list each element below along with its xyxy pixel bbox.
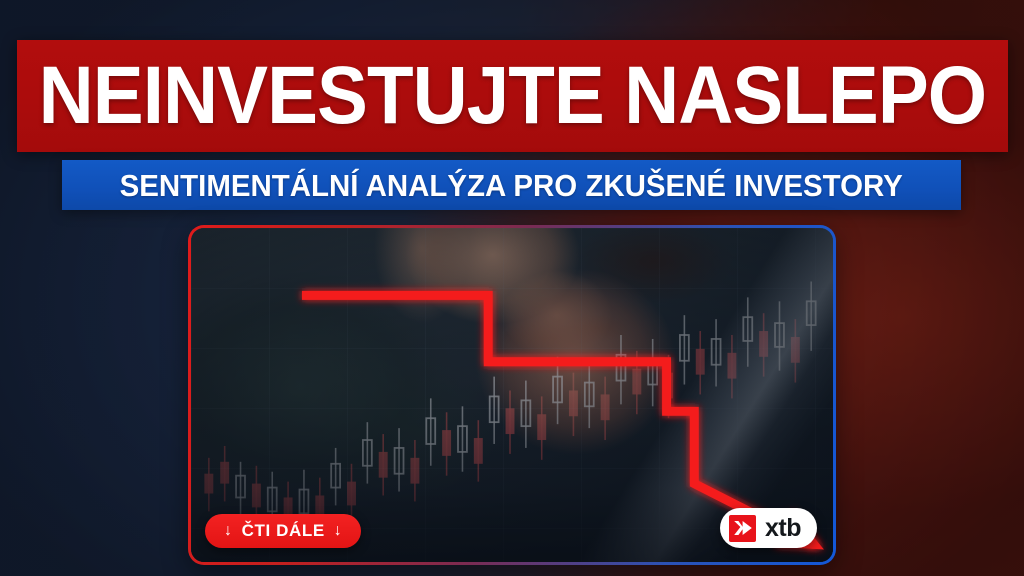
read-more-button[interactable]: ↓ ČTI DÁLE ↓	[205, 514, 361, 548]
hero-image-inner: ↓ ČTI DÁLE ↓ xtb	[191, 228, 833, 562]
poster-canvas: NEINVESTUJTE NASLEPO SENTIMENTÁLNÍ ANALÝ…	[0, 0, 1024, 576]
arrow-down-icon-right: ↓	[334, 523, 343, 539]
read-more-label: ČTI DÁLE	[242, 521, 325, 541]
xtb-logo[interactable]: xtb	[720, 508, 817, 548]
subtitle-banner: SENTIMENTÁLNÍ ANALÝZA PRO ZKUŠENÉ INVEST…	[62, 160, 961, 210]
xtb-mark-icon	[729, 515, 756, 542]
hero-image-panel[interactable]: ↓ ČTI DÁLE ↓ xtb	[188, 225, 836, 565]
page-subtitle: SENTIMENTÁLNÍ ANALÝZA PRO ZKUŠENÉ INVEST…	[120, 170, 903, 201]
arrow-down-icon-left: ↓	[224, 523, 233, 539]
title-banner: NEINVESTUJTE NASLEPO	[17, 40, 1008, 152]
xtb-x-glyph	[733, 520, 753, 536]
xtb-wordmark: xtb	[765, 516, 801, 541]
page-title: NEINVESTUJTE NASLEPO	[39, 55, 987, 137]
